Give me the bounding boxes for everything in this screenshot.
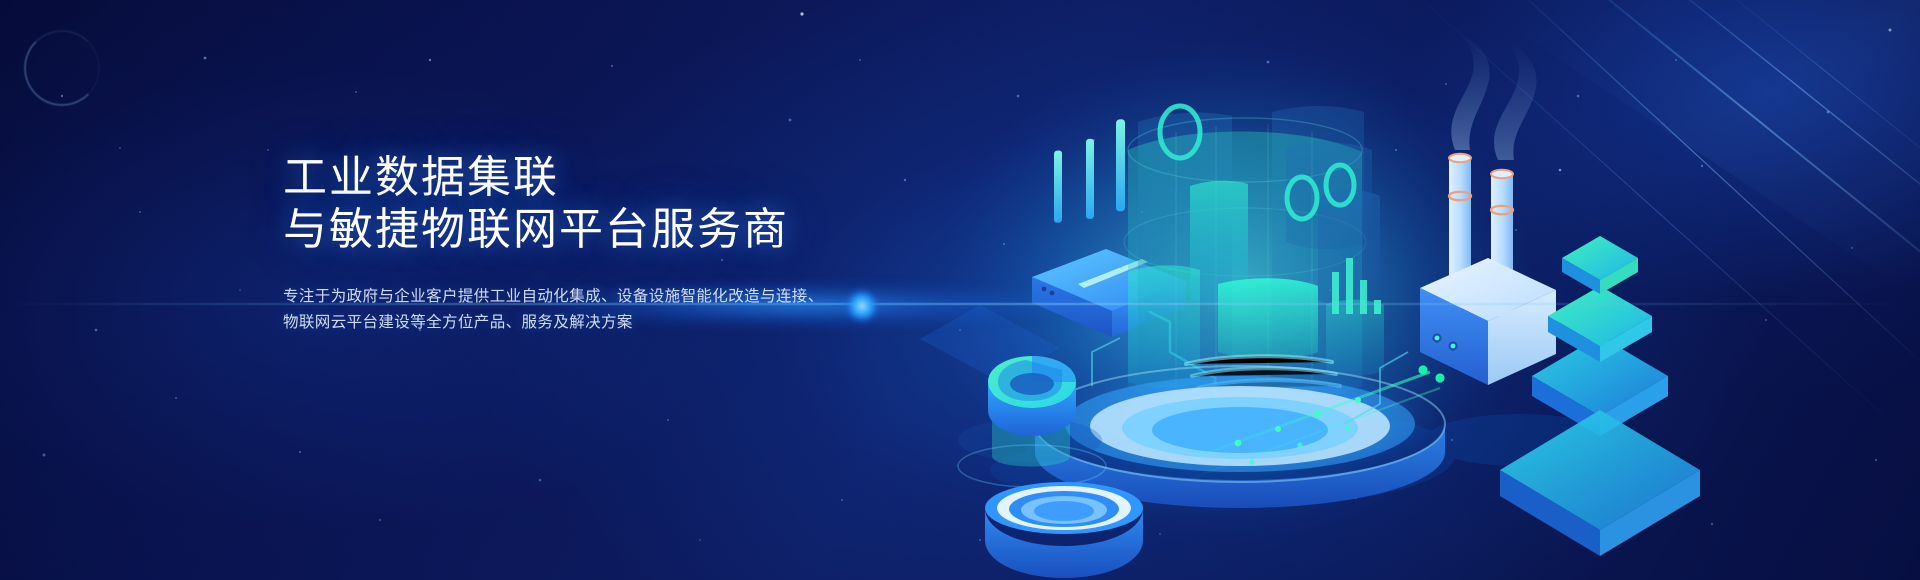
glowing-platform-disc [1035,360,1445,508]
wifi-router-device [920,119,1186,382]
data-cylinder-tower [1124,106,1384,410]
tower-bar-chart-icon [1332,258,1381,314]
pyramid-stack [1500,236,1700,556]
tower-ring-icon-3 [1326,165,1354,205]
tower-ring-icon-2 [1287,177,1317,219]
factory-smokestacks [1420,34,1556,385]
hero-banner: 工业数据集联 与敏捷物联网平台服务商 专注于为政府与企业客户提供工业自动化集成、… [0,0,1920,580]
banner-headline: 工业数据集联 与敏捷物联网平台服务商 [283,152,923,256]
light-beam-particles [1160,365,1445,486]
connection-lines [1092,338,1408,424]
cut-cylinder-ring [958,356,1106,487]
tower-ring-icon-1 [1160,106,1200,158]
banner-copy-block: 工业数据集联 与敏捷物联网平台服务商 专注于为政府与企业客户提供工业自动化集成、… [283,152,923,336]
banner-subtitle: 专注于为政府与企业客户提供工业自动化集成、设备设施智能化改造与连接、 物联网云平… [283,284,923,336]
target-ring-disc [985,482,1143,578]
crescent-arc-decoration [24,30,100,106]
connection-line-router [1150,312,1258,423]
